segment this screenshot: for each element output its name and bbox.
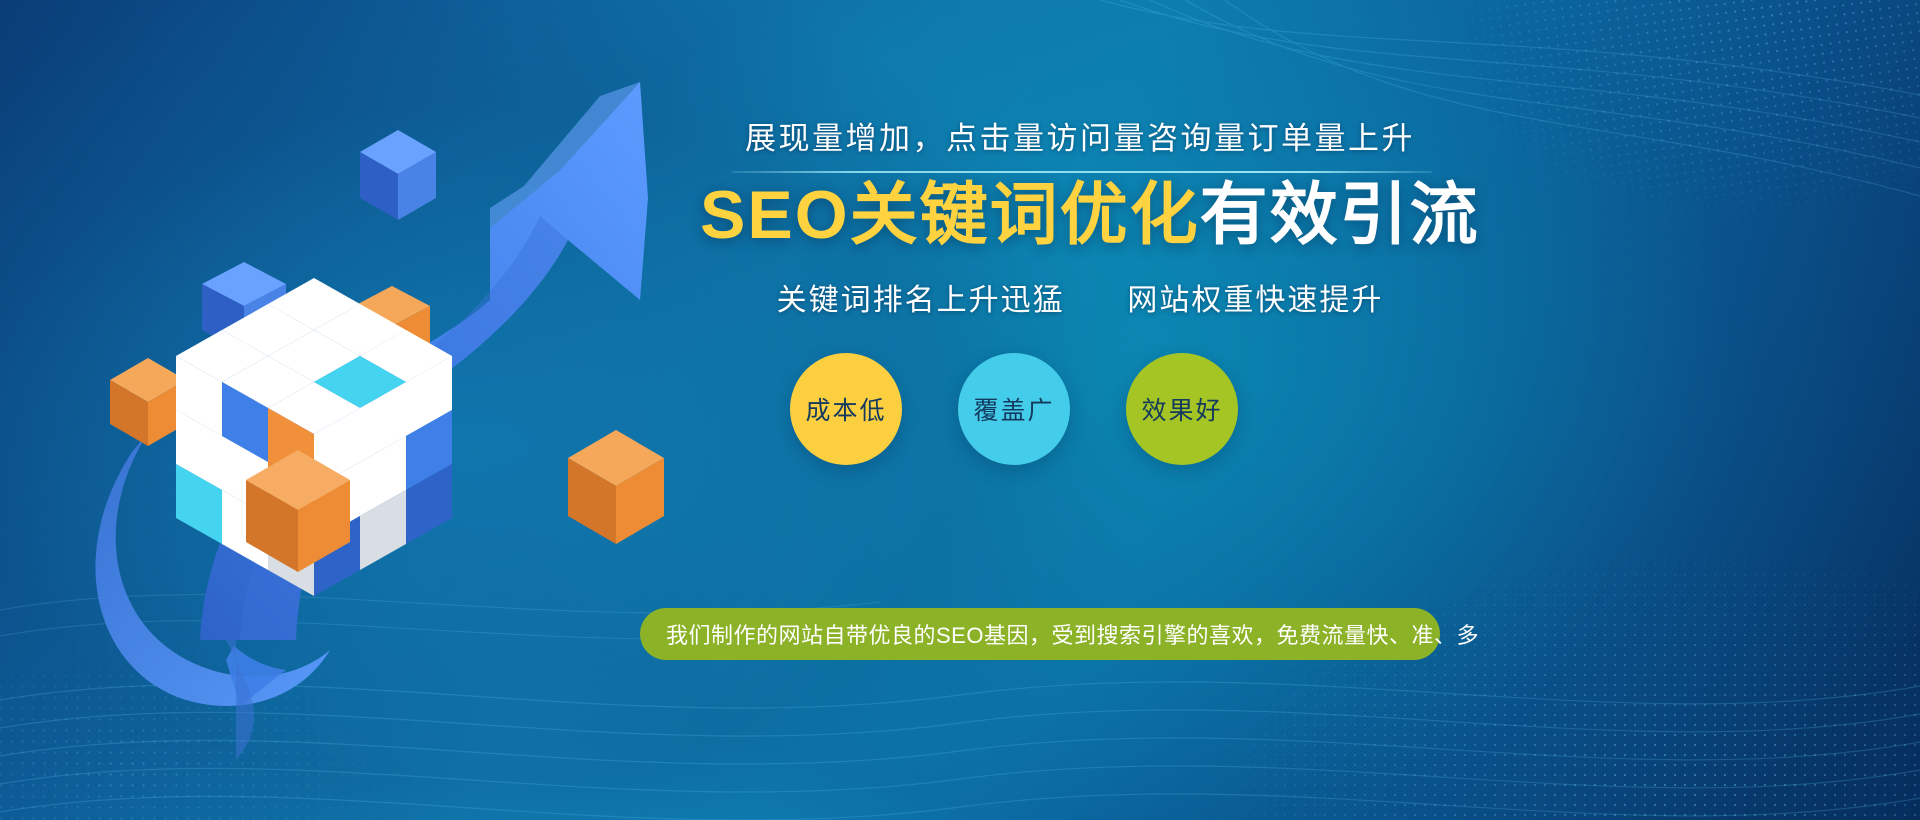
subtitle-left: 关键词排名上升迅猛 (777, 284, 1065, 317)
seo-promo-banner: 展现量增加，点击量访问量咨询量订单量上升 SEO关键词优化有效引流 关键词排名上… (0, 0, 1920, 820)
badge-group: 成本低 覆盖广 效果好 (790, 353, 1410, 493)
subtitle-right: 网站权重快速提升 (1127, 284, 1383, 317)
footer-note-text: 我们制作的网站自带优良的SEO基因，受到搜索引擎的喜欢，免费流量快、准、多 (640, 618, 1479, 650)
footer-note-bar: 我们制作的网站自带优良的SEO基因，受到搜索引擎的喜欢，免费流量快、准、多 (640, 608, 1440, 660)
kicker-text: 展现量增加，点击量访问量咨询量订单量上升 (700, 120, 1460, 157)
badge-cost-low[interactable]: 成本低 (790, 353, 902, 465)
page-title: SEO关键词优化有效引流 (700, 177, 1460, 253)
badge-label: 成本低 (805, 391, 886, 427)
seo-growth-graphic (0, 0, 720, 820)
banner-content: 展现量增加，点击量访问量咨询量订单量上升 SEO关键词优化有效引流 关键词排名上… (640, 120, 1880, 700)
badge-label: 效果好 (1141, 391, 1222, 427)
divider (732, 171, 1432, 173)
headline-plain: 有效引流 (1200, 177, 1480, 253)
badge-effect-good[interactable]: 效果好 (1126, 353, 1238, 465)
headline-highlight: SEO关键词优化 (700, 177, 1200, 253)
rubiks-cube-icon (110, 262, 452, 596)
subtitle-row: 关键词排名上升迅猛 网站权重快速提升 (700, 275, 1460, 319)
badge-coverage-wide[interactable]: 覆盖广 (958, 353, 1070, 465)
floating-blue-cube-icon (360, 130, 436, 220)
badge-label: 覆盖广 (973, 391, 1054, 427)
